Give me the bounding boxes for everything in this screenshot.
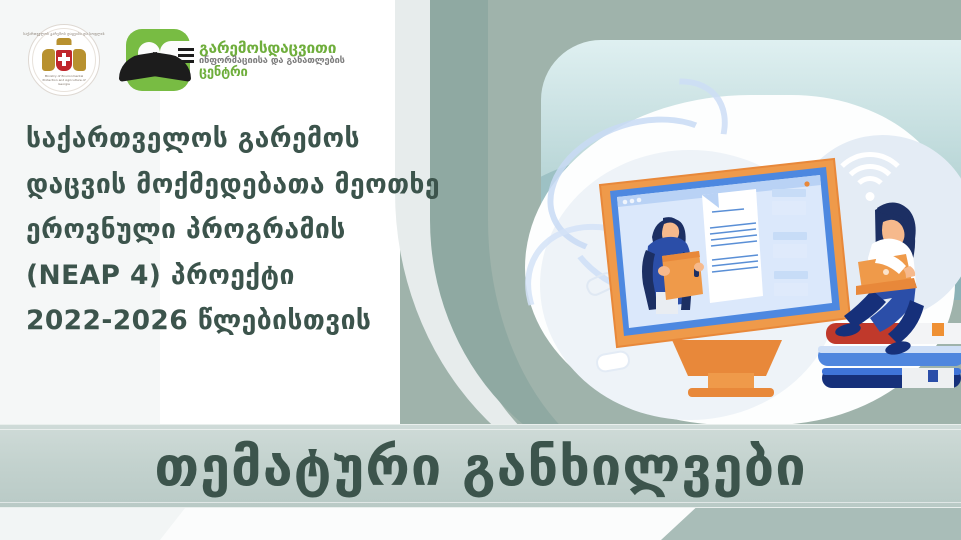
headline-line-3: ეროვნული პროგრამის	[26, 217, 440, 244]
ministry-seal-logo: საქართველოს გარემოს დაცვისა და სოფლის Mi…	[28, 24, 100, 96]
logo-bar	[178, 48, 194, 51]
logo-row: საქართველოს გარემოს დაცვისა და სოფლის Mi…	[28, 24, 345, 96]
illustration-svg	[560, 140, 961, 424]
crown-icon	[57, 38, 72, 45]
seal-arc-text: საქართველოს გარემოს დაცვისა და სოფლის	[23, 32, 104, 36]
seal-footer-text: Ministry of Environmental Protection and…	[37, 74, 91, 86]
center-logo-mark	[126, 29, 190, 91]
headline-block: საქართველოს გარემოს დაცვის მოქმედებათა მ…	[26, 126, 440, 354]
lion-icon	[42, 49, 55, 71]
center-logo-line1: გარემოსდაცვითი	[199, 40, 345, 57]
headline-line-5: 2022-2026 წლებისთვის	[26, 308, 440, 335]
headline-line-2: დაცვის მოქმედებათა მეოთხე	[26, 172, 440, 199]
bottom-banner: თემატური განხილვები	[0, 424, 961, 508]
presentation-slide: საქართველოს გარემოს დაცვისა და სოფლის Mi…	[0, 0, 961, 540]
headline-line-1: საქართველოს გარემოს	[26, 126, 440, 153]
monitor-stand	[672, 340, 782, 397]
open-book-icon	[119, 53, 191, 79]
online-learning-illustration	[560, 140, 961, 424]
headline-line-4: (NEAP 4) პროექტი	[26, 263, 440, 290]
shield-icon	[56, 50, 72, 71]
lion-icon	[73, 49, 86, 71]
center-logo-text: გარემოსდაცვითი ინფორმაციისა და განათლები…	[199, 40, 345, 81]
environmental-information-center-logo: გარემოსდაცვითი ინფორმაციისა და განათლები…	[126, 29, 345, 91]
banner-title: თემატური განხილვები	[154, 435, 806, 498]
center-logo-line3: ცენტრი	[199, 66, 345, 80]
desktop-monitor	[600, 159, 850, 347]
